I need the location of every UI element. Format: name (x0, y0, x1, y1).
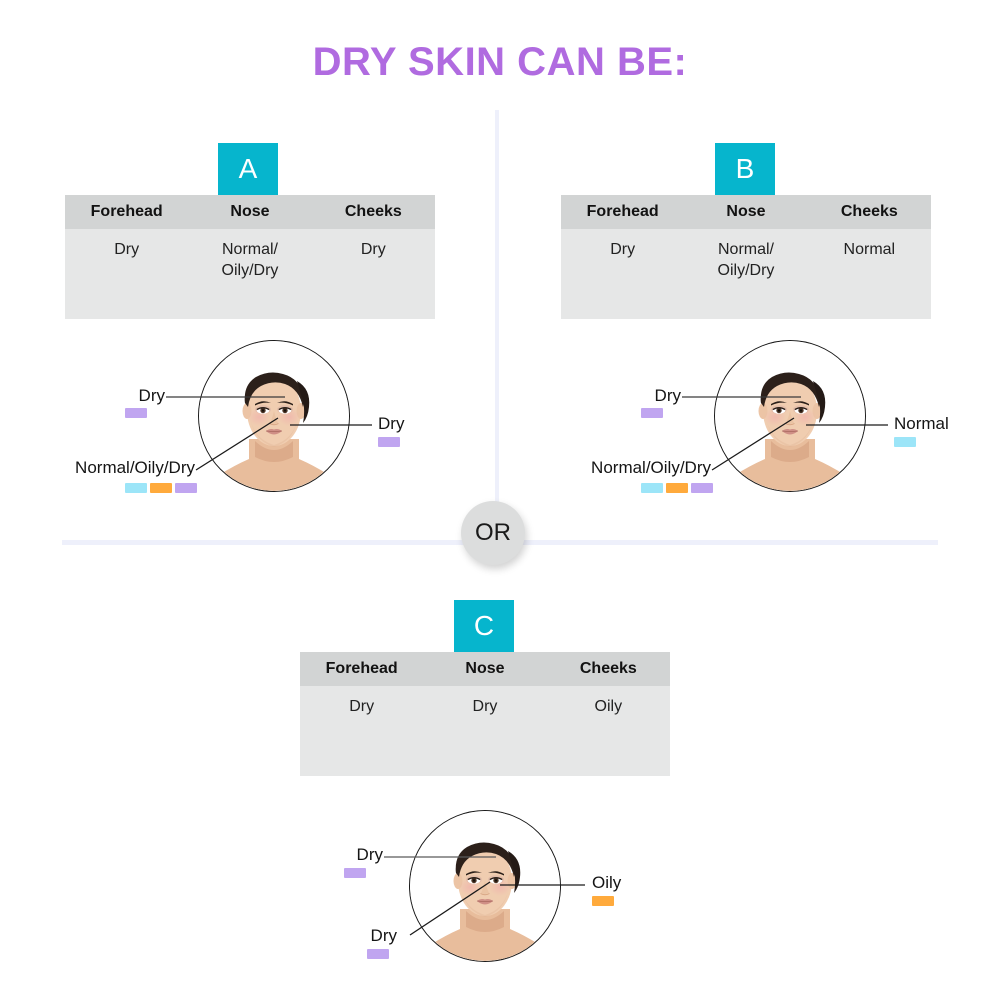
column-header-cheeks: Cheeks (547, 660, 670, 678)
cell-cheeks: Oily (547, 696, 670, 776)
column-header-nose: Nose (684, 203, 807, 221)
label-b-cheeks: Normal (894, 414, 949, 434)
swatches-a-nose (125, 483, 197, 493)
cell-forehead: Dry (561, 239, 684, 319)
panel-a-tag: A (218, 143, 278, 195)
swatch-purple (691, 483, 713, 493)
panel-b-tag: B (715, 143, 775, 195)
cell-nose: Normal/ Oily/Dry (188, 239, 311, 319)
cell-cheeks: Dry (312, 239, 435, 319)
swatches-b-cheeks (894, 437, 916, 447)
swatch-orange (150, 483, 172, 493)
column-header-cheeks: Cheeks (312, 203, 435, 221)
vertical-divider (495, 110, 499, 542)
label-c-nose: Dry (280, 926, 397, 946)
table-body-row: Dry Normal/ Oily/Dry Dry (65, 229, 435, 319)
label-c-forehead: Dry (258, 845, 383, 865)
table-header-row: Forehead Nose Cheeks (561, 195, 931, 229)
swatch-purple (344, 868, 366, 878)
cell-forehead: Dry (300, 696, 423, 776)
panel-b-table: Forehead Nose Cheeks Dry Normal/ Oily/Dr… (561, 195, 931, 319)
label-b-nose: Normal/Oily/Dry (536, 458, 711, 478)
swatch-purple (175, 483, 197, 493)
cell-cheeks: Normal (808, 239, 931, 319)
table-header-row: Forehead Nose Cheeks (65, 195, 435, 229)
label-a-forehead: Dry (40, 386, 165, 406)
swatches-c-forehead (344, 868, 366, 878)
swatch-blue (641, 483, 663, 493)
swatch-orange (592, 896, 614, 906)
swatch-purple (367, 949, 389, 959)
swatch-orange (666, 483, 688, 493)
label-c-cheeks: Oily (592, 873, 621, 893)
swatches-c-cheeks (592, 896, 614, 906)
swatches-c-nose (367, 949, 389, 959)
swatch-purple (125, 408, 147, 418)
table-body-row: Dry Dry Oily (300, 686, 670, 776)
panel-c-leader-lines (300, 800, 700, 990)
column-header-cheeks: Cheeks (808, 203, 931, 221)
panel-a-table: Forehead Nose Cheeks Dry Normal/ Oily/Dr… (65, 195, 435, 319)
column-header-nose: Nose (188, 203, 311, 221)
cell-nose: Dry (423, 696, 546, 776)
swatch-purple (378, 437, 400, 447)
swatch-blue (125, 483, 147, 493)
page-title: DRY SKIN CAN BE: (0, 40, 1000, 85)
panel-c-tag: C (454, 600, 514, 652)
column-header-nose: Nose (423, 660, 546, 678)
swatches-b-forehead (641, 408, 663, 418)
cell-forehead: Dry (65, 239, 188, 319)
label-a-cheeks: Dry (378, 414, 404, 434)
swatch-purple (641, 408, 663, 418)
table-body-row: Dry Normal/ Oily/Dry Normal (561, 229, 931, 319)
panel-c-table: Forehead Nose Cheeks Dry Dry Oily (300, 652, 670, 776)
cell-nose: Normal/ Oily/Dry (684, 239, 807, 319)
column-header-forehead: Forehead (65, 203, 188, 221)
label-a-nose: Normal/Oily/Dry (20, 458, 195, 478)
swatches-a-cheeks (378, 437, 400, 447)
table-header-row: Forehead Nose Cheeks (300, 652, 670, 686)
swatch-blue (894, 437, 916, 447)
label-b-forehead: Dry (556, 386, 681, 406)
column-header-forehead: Forehead (300, 660, 423, 678)
column-header-forehead: Forehead (561, 203, 684, 221)
swatches-b-nose (641, 483, 713, 493)
swatches-a-forehead (125, 408, 147, 418)
